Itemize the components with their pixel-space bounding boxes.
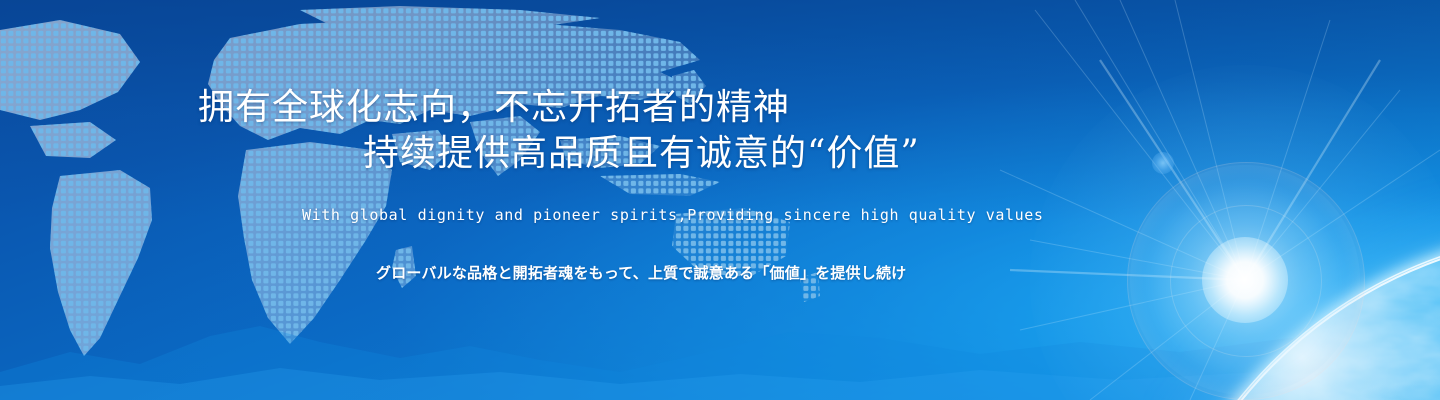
headline-line-2: 持续提供高品质且有诚意的“价值” (363, 136, 920, 172)
subtitle-japanese: グローバルな品格と開拓者魂をもって、上質で誠意ある「価値」を提供し続け (376, 262, 906, 283)
headline-line-1: 拥有全球化志向，不忘开拓者的精神 (198, 90, 790, 126)
hero-banner: 拥有全球化志向，不忘开拓者的精神 持续提供高品质且有诚意的“价值” With g… (0, 0, 1440, 400)
subtitle-english: With global dignity and pioneer spirits,… (302, 206, 1044, 224)
banner-copy: 拥有全球化志向，不忘开拓者的精神 持续提供高品质且有诚意的“价值” With g… (0, 0, 1440, 400)
